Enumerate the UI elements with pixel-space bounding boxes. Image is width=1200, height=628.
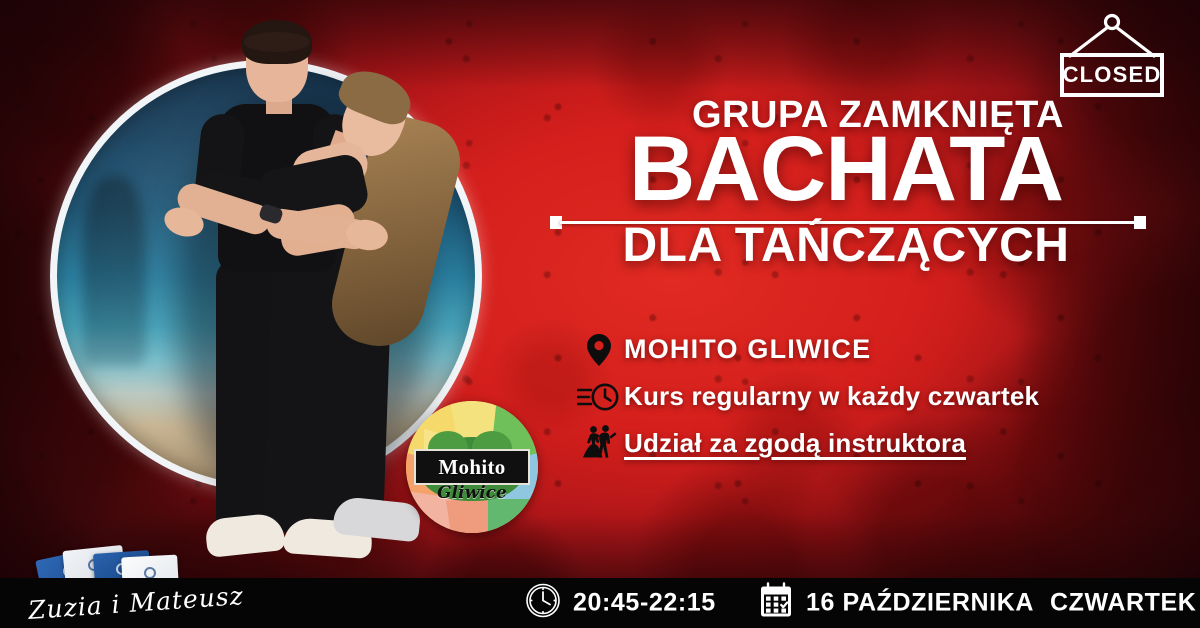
info-text-admission: Udział za zgodą instruktora [624, 428, 966, 459]
footer-weekday-text: CZWARTEK [1050, 589, 1196, 618]
photo-zone: Mohito Gliwice [28, 22, 498, 570]
footer-time-group: 20:45-22:15 [525, 583, 716, 624]
footer-date-text: 16 PAŹDZIERNIKA [806, 589, 1034, 618]
logo-city-text: Gliwice [406, 483, 538, 503]
info-row-admission: Udział za zgodą instruktora [574, 420, 1174, 467]
location-pin-icon [574, 333, 624, 367]
clock-icon [525, 583, 561, 624]
mohito-logo-badge: Mohito Gliwice [406, 401, 538, 533]
poster-root: Mohito Gliwice CLOSED GRUPA ZAMKNIĘTA BA… [0, 0, 1200, 628]
info-list: MOHITO GLIWICE Kurs regularny w każdy cz… [574, 326, 1174, 467]
fast-clock-icon [574, 381, 624, 413]
footer-date-group: 16 PAŹDZIERNIKA [758, 582, 1034, 625]
footer-weekday-group: CZWARTEK [1050, 589, 1196, 618]
dancing-couple-icon [574, 424, 624, 464]
man-hair-highlight [244, 32, 310, 52]
signature-text: Zuzia i Mateusz [27, 581, 244, 625]
calendar-icon [758, 582, 794, 625]
info-text-location: MOHITO GLIWICE [624, 334, 871, 365]
info-row-location: MOHITO GLIWICE [574, 326, 1174, 373]
footer-time-text: 20:45-22:15 [573, 589, 716, 618]
subtitle-text: DLA TAŃCZĄCYCH [548, 222, 1144, 270]
logo-name-band: Mohito [414, 449, 530, 485]
logo-name-text: Mohito [438, 455, 505, 480]
content-column: GRUPA ZAMKNIĘTA BACHATA DLA TAŃCZĄCYCH M… [540, 0, 1200, 578]
info-row-schedule: Kurs regularny w każdy czwartek [574, 373, 1174, 420]
footer-bar: Zuzia i Mateusz 20:45-22:15 [0, 578, 1200, 628]
page-title: BACHATA [548, 126, 1144, 212]
info-text-schedule: Kurs regularny w każdy czwartek [624, 381, 1039, 412]
